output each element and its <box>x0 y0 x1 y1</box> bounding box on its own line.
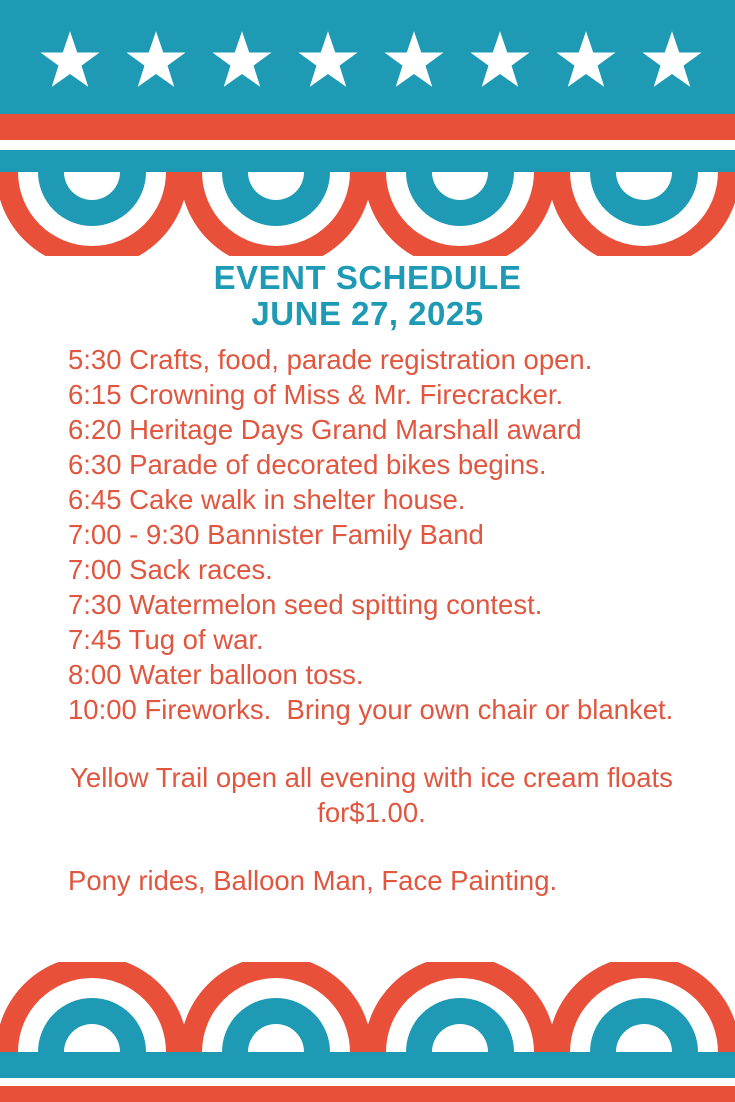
bunting-swag <box>0 962 188 1052</box>
schedule-item: 7:00 Sack races. <box>68 552 685 587</box>
schedule-item: 6:20 Heritage Days Grand Marshall award <box>68 412 685 447</box>
yellow-trail-note: Yellow Trail open all evening with ice c… <box>0 760 735 830</box>
bunting-swag <box>180 172 372 256</box>
red-stripe-top <box>0 114 735 140</box>
schedule-item: 6:45 Cake walk in shelter house. <box>68 482 685 517</box>
schedule-item: 6:15 Crowning of Miss & Mr. Firecracker. <box>68 377 685 412</box>
bunting-swag <box>0 172 188 256</box>
schedule-list: 5:30 Crafts, food, parade registration o… <box>0 342 735 727</box>
page-title-line-2: JUNE 27, 2025 <box>0 296 735 332</box>
star-field-band <box>0 0 735 114</box>
event-schedule-poster: EVENT SCHEDULE JUNE 27, 2025 5:30 Crafts… <box>0 0 735 1102</box>
white-gap-bottom <box>0 1078 735 1086</box>
bunting-swags-top <box>0 172 735 256</box>
schedule-item: 6:30 Parade of decorated bikes begins. <box>68 447 685 482</box>
schedule-item: 7:30 Watermelon seed spitting contest. <box>68 587 685 622</box>
top-decoration-svg <box>0 0 735 256</box>
teal-stripe-top <box>0 150 735 172</box>
bunting-swag <box>364 962 556 1052</box>
activities-note: Pony rides, Balloon Man, Face Painting. <box>0 863 735 898</box>
page-title-line-1: EVENT SCHEDULE <box>0 260 735 296</box>
bunting-swag <box>364 172 556 256</box>
red-stripe-bottom <box>0 1086 735 1102</box>
bunting-swag <box>180 962 372 1052</box>
schedule-item: 7:45 Tug of war. <box>68 622 685 657</box>
schedule-item: 7:00 - 9:30 Bannister Family Band <box>68 517 685 552</box>
bunting-swags-bottom <box>0 962 735 1052</box>
top-decoration-border <box>0 0 735 256</box>
bottom-decoration-svg <box>0 962 735 1102</box>
bottom-decoration-border <box>0 962 735 1102</box>
bunting-swag <box>548 172 735 256</box>
bunting-swag <box>548 962 735 1052</box>
title-block: EVENT SCHEDULE JUNE 27, 2025 <box>0 256 735 332</box>
teal-stripe-bottom <box>0 1052 735 1078</box>
poster-content: EVENT SCHEDULE JUNE 27, 2025 5:30 Crafts… <box>0 256 735 898</box>
white-gap-top <box>0 140 735 150</box>
schedule-item: 5:30 Crafts, food, parade registration o… <box>68 342 685 377</box>
schedule-item: 10:00 Fireworks. Bring your own chair or… <box>68 692 685 727</box>
schedule-item: 8:00 Water balloon toss. <box>68 657 685 692</box>
